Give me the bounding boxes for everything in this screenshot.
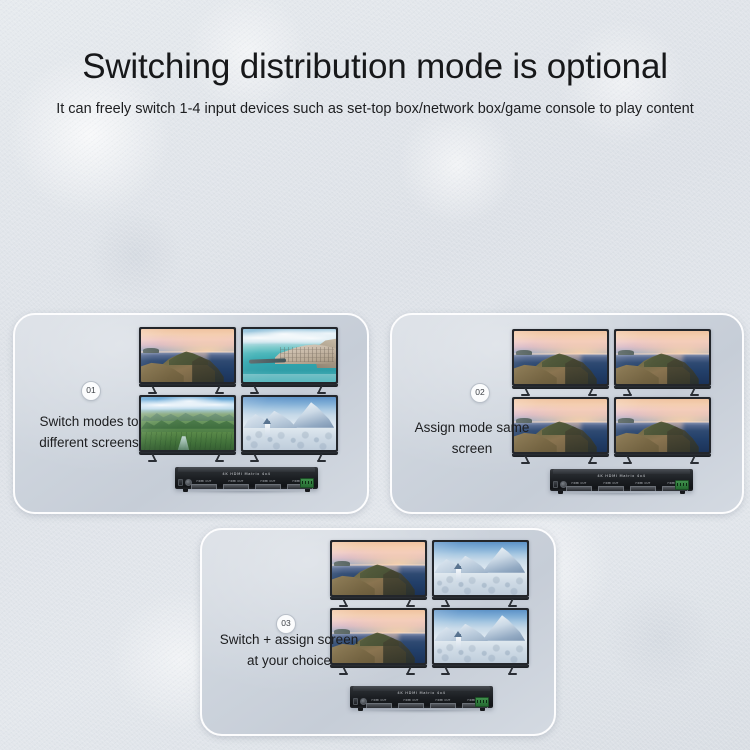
device-output-ports: HDMI OUT OUTPUT 1 HDMI OUT OUTPUT 2 HDMI… [566,482,688,491]
scene-snowy-mountain [434,610,527,663]
tv-screen-4 [612,395,714,463]
tv-display [243,397,336,450]
ir-sensor-icon [178,479,183,486]
terminal-block-icon [300,478,314,488]
ir-sensor-icon [553,481,558,488]
mode-card-1[interactable]: 01 Switch modes to different screens [13,313,369,514]
tv-display [434,610,527,663]
hdmi-jack-icon [630,486,656,492]
port-group: HDMI OUT OUTPUT 2 [223,480,249,489]
terminal-block-icon [475,697,489,707]
hdmi-matrix-device: 4K HDMI Matrix 4x4 HDMI OUT OUTPUT 1 HDM… [175,463,318,493]
device-output-ports: HDMI OUT OUTPUT 1 HDMI OUT OUTPUT 2 HDMI… [366,699,488,708]
tv-grid [137,325,341,461]
hdmi-jack-icon [398,703,424,709]
tv-screen-4 [239,393,341,461]
mode-card-3[interactable]: 03 Switch + assign screen at your choice [200,528,556,736]
tv-display [514,331,607,384]
mode-badge: 01 [81,381,101,401]
tv-display [141,397,234,450]
mode-card-2[interactable]: 02 Assign mode same screen [390,313,744,514]
scene-coastal-sunset [141,329,234,382]
port-label: HDMI OUT [255,480,281,483]
mode-label: Assign mode same screen [406,418,538,460]
port-group: HDMI OUT OUTPUT 1 [366,699,392,708]
tv-bezel [241,395,338,452]
port-label: HDMI OUT [598,482,624,485]
port-label: HDMI OUT [398,699,424,702]
tv-screen-1 [510,327,612,395]
tv-bezel [432,608,529,665]
tv-display [141,329,234,382]
tv-bezel [432,540,529,597]
tv-bezel [614,329,711,386]
tv-bezel [330,540,427,597]
hdmi-jack-icon [566,486,592,492]
port-label: HDMI OUT [566,482,592,485]
port-group: HDMI OUT OUTPUT 3 [430,699,456,708]
scene-snowy-mountain [243,397,336,450]
tv-screen-1 [328,538,430,606]
promo-page: Switching distribution mode is optional … [0,0,750,750]
scene-coastal-sunset [332,542,425,595]
hdmi-matrix-device: 4K HDMI Matrix 4x4 HDMI OUT OUTPUT 1 HDM… [350,682,493,714]
scene-coastal-sunset [616,331,709,384]
device-chassis: 4K HDMI Matrix 4x4 HDMI OUT OUTPUT 1 HDM… [550,469,693,491]
scene-coastal-sunset [514,331,607,384]
mode-label: Switch + assign screen at your choice [214,630,364,672]
hdmi-jack-icon [366,703,392,709]
tv-screen-3 [137,393,239,461]
tv-bezel [241,327,338,384]
mode-label: Switch modes to different screens [29,412,149,454]
port-label: HDMI OUT [366,699,392,702]
terminal-block-icon [675,480,689,490]
tv-bezel [139,327,236,384]
hdmi-matrix-device: 4K HDMI Matrix 4x4 HDMI OUT OUTPUT 1 HDM… [550,465,693,495]
device-front-controls [178,479,192,486]
port-label: HDMI OUT [630,482,656,485]
ir-sensor-icon [353,698,358,705]
device-chassis: 4K HDMI Matrix 4x4 HDMI OUT OUTPUT 1 HDM… [175,467,318,489]
tv-screen-2 [239,325,341,393]
device-front-controls [353,698,367,705]
hdmi-jack-icon [598,486,624,492]
tv-display [332,542,425,595]
scene-turquoise-bay [243,329,336,382]
hdmi-jack-icon [255,484,281,490]
tv-screen-2 [430,538,532,606]
header: Switching distribution mode is optional … [0,0,750,120]
tv-screen-2 [612,327,714,395]
port-label: HDMI OUT [223,480,249,483]
tv-display [243,329,336,382]
scene-green-valley [141,397,234,450]
scene-snowy-mountain [434,542,527,595]
device-chassis: 4K HDMI Matrix 4x4 HDMI OUT OUTPUT 1 HDM… [350,686,493,708]
hdmi-jack-icon [223,484,249,490]
page-title: Switching distribution mode is optional [0,48,750,87]
port-label: HDMI OUT [191,480,217,483]
device-model-label: 4K HDMI Matrix 4x4 [350,691,493,695]
device-model-label: 4K HDMI Matrix 4x4 [175,472,318,476]
scene-coastal-sunset [616,399,709,452]
tv-screen-1 [137,325,239,393]
device-output-ports: HDMI OUT OUTPUT 1 HDMI OUT OUTPUT 2 HDMI… [191,480,313,489]
tv-bezel [614,397,711,454]
tv-grid [510,327,714,463]
port-group: HDMI OUT OUTPUT 1 [191,480,217,489]
page-subtitle: It can freely switch 1-4 input devices s… [30,99,720,120]
tv-display [616,331,709,384]
port-group: HDMI OUT OUTPUT 3 [630,482,656,491]
hdmi-jack-icon [191,484,217,490]
tv-display [616,399,709,452]
tv-screen-4 [430,606,532,674]
port-label: HDMI OUT [430,699,456,702]
mode-badge: 02 [470,383,490,403]
device-model-label: 4K HDMI Matrix 4x4 [550,474,693,478]
port-group: HDMI OUT OUTPUT 1 [566,482,592,491]
hdmi-jack-icon [430,703,456,709]
device-front-controls [553,481,567,488]
tv-bezel [139,395,236,452]
tv-bezel [512,329,609,386]
port-group: HDMI OUT OUTPUT 3 [255,480,281,489]
tv-display [434,542,527,595]
port-group: HDMI OUT OUTPUT 2 [398,699,424,708]
port-group: HDMI OUT OUTPUT 2 [598,482,624,491]
